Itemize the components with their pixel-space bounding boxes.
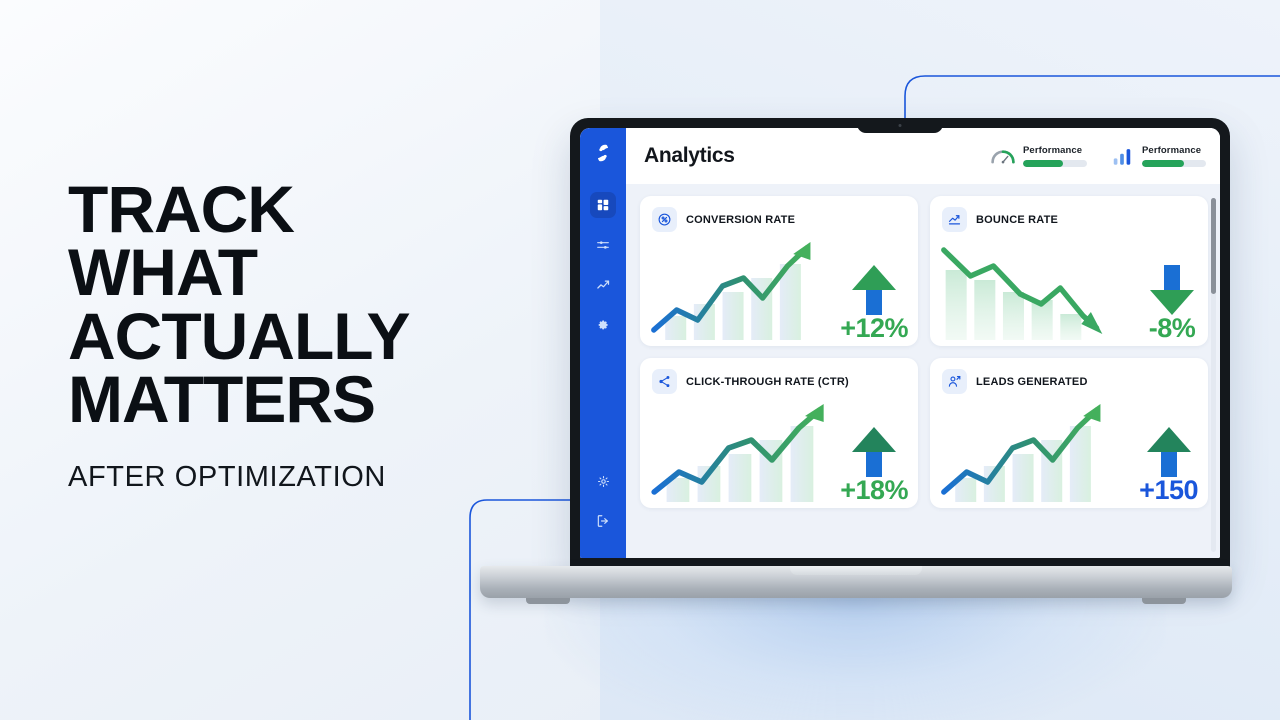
sparkline-chart [648, 236, 820, 340]
headline-line-3: ACTUALLY [68, 305, 538, 368]
performance-progress-bar [1142, 160, 1206, 167]
subheadline: AFTER OPTIMIZATION [68, 461, 538, 494]
card-title: LEADS GENERATED [976, 376, 1088, 388]
delta-value: +12% [840, 315, 908, 342]
performance-text-bars: Performance [1142, 145, 1206, 167]
laptop-screen: Analytics [580, 128, 1220, 558]
user-add-icon [942, 369, 967, 394]
headline-block: TRACK WHAT ACTUALLY MATTERS AFTER OPTIMI… [68, 178, 538, 494]
analytics-app: Analytics [580, 128, 1220, 558]
card-body: -8% [930, 236, 1208, 346]
laptop-mockup: Analytics [470, 118, 1240, 618]
card-body: +18% [640, 398, 918, 508]
headline-line-1: TRACK [68, 178, 538, 241]
laptop-base [480, 566, 1232, 598]
arrow-up-icon [1143, 425, 1195, 479]
headline-line-2: WHAT [68, 241, 538, 304]
app-content: Analytics [626, 128, 1220, 558]
performance-text-gauge: Performance [1023, 145, 1087, 167]
sidebar-item-filters[interactable] [590, 232, 616, 258]
card-body: +150 [930, 398, 1208, 508]
performance-progress-fill [1023, 160, 1063, 167]
card-header: LEADS GENERATED [942, 369, 1196, 394]
laptop-base-notch [790, 566, 922, 575]
performance-progress-bar [1023, 160, 1087, 167]
performance-widget-gauge[interactable]: Performance [990, 145, 1087, 167]
arrow-up-icon [848, 263, 900, 317]
trend-arrow-icon [942, 207, 967, 232]
arrow-up-icon [848, 425, 900, 479]
headline-line-4: MATTERS [68, 368, 538, 431]
delta-block: +12% [840, 263, 908, 342]
performance-label: Performance [1142, 145, 1206, 156]
performance-label: Performance [1023, 145, 1087, 156]
arrow-down-icon [1146, 263, 1198, 317]
poster-canvas: TRACK WHAT ACTUALLY MATTERS AFTER OPTIMI… [0, 0, 1280, 720]
bar-chart-icon [1109, 145, 1135, 167]
sidebar-item-logout[interactable] [590, 508, 616, 534]
delta-value: -8% [1149, 315, 1196, 342]
laptop-notch [857, 118, 943, 133]
webcam-icon [899, 124, 902, 127]
delta-block: +150 [1139, 425, 1198, 504]
metric-card-conversion-rate[interactable]: CONVERSION RATE [640, 196, 918, 346]
card-header: CLICK-THROUGH RATE (CTR) [652, 369, 906, 394]
sidebar-item-settings[interactable] [590, 312, 616, 338]
metric-card-bounce-rate[interactable]: BOUNCE RATE [930, 196, 1208, 346]
card-header: CONVERSION RATE [652, 207, 906, 232]
brand-logo-icon[interactable] [590, 140, 616, 166]
laptop-foot-left [526, 598, 570, 604]
sidebar-item-preferences[interactable] [590, 468, 616, 494]
metric-card-grid: CONVERSION RATE [640, 196, 1208, 508]
metric-card-click-through-rate[interactable]: CLICK-THROUGH RATE (CTR) [640, 358, 918, 508]
page-title: TRACK WHAT ACTUALLY MATTERS [68, 178, 538, 431]
percent-circle-icon [652, 207, 677, 232]
performance-progress-fill [1142, 160, 1184, 167]
laptop-foot-right [1142, 598, 1186, 604]
card-body: +12% [640, 236, 918, 346]
card-header: BOUNCE RATE [942, 207, 1196, 232]
gauge-icon [990, 145, 1016, 167]
app-page-title: Analytics [644, 144, 735, 168]
scrollbar-thumb[interactable] [1211, 198, 1216, 294]
sidebar-item-trends[interactable] [590, 272, 616, 298]
sidebar-item-dashboard[interactable] [590, 192, 616, 218]
delta-block: +18% [840, 425, 908, 504]
sparkline-chart [938, 398, 1110, 502]
sparkline-chart [938, 236, 1110, 340]
vertical-scrollbar[interactable] [1211, 198, 1216, 552]
performance-widget-bars[interactable]: Performance [1109, 145, 1206, 167]
dashboard-board: CONVERSION RATE [626, 184, 1220, 558]
sparkline-chart [648, 398, 834, 502]
metric-card-leads-generated[interactable]: LEADS GENERATED [930, 358, 1208, 508]
topbar: Analytics [626, 128, 1220, 184]
sidebar [580, 128, 626, 558]
card-title: BOUNCE RATE [976, 214, 1058, 226]
delta-value: +150 [1139, 477, 1198, 504]
card-title: CONVERSION RATE [686, 214, 795, 226]
delta-block: -8% [1146, 263, 1198, 342]
delta-value: +18% [840, 477, 908, 504]
share-nodes-icon [652, 369, 677, 394]
laptop-lid: Analytics [570, 118, 1230, 570]
card-title: CLICK-THROUGH RATE (CTR) [686, 376, 849, 388]
